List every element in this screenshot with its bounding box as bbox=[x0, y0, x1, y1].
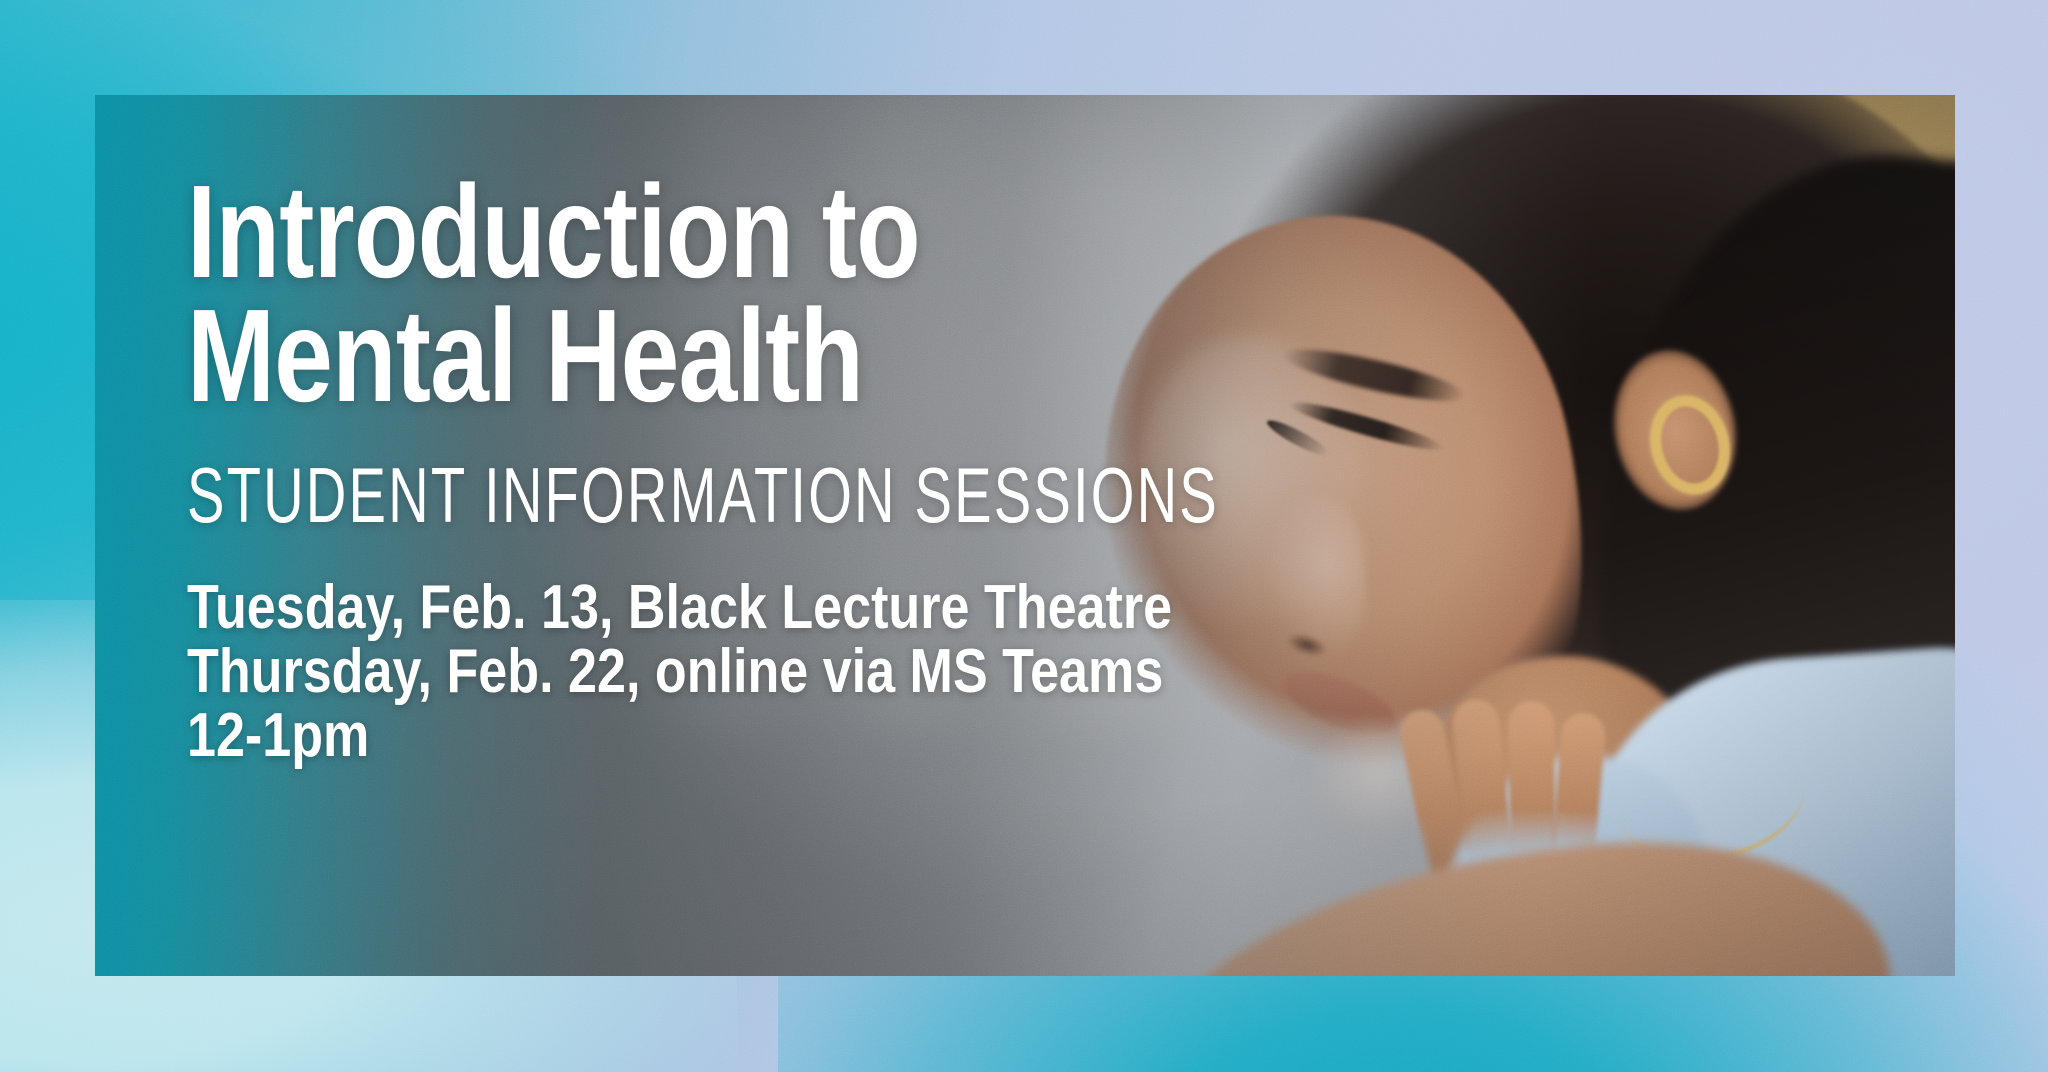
poster-canvas: Introduction to Mental Health STUDENT IN… bbox=[0, 0, 2048, 1072]
session-detail-line-1: Tuesday, Feb. 13, Black Lecture Theatre bbox=[187, 576, 1128, 640]
session-detail-line-2: Thursday, Feb. 22, online via MS Teams bbox=[187, 640, 1128, 704]
poster-subtitle: STUDENT INFORMATION SESSIONS bbox=[187, 456, 993, 534]
poster-title-line-2: Mental Health bbox=[187, 294, 1083, 418]
poster-details: Tuesday, Feb. 13, Black Lecture Theatre … bbox=[187, 576, 1307, 768]
poster-copy-block: Introduction to Mental Health STUDENT IN… bbox=[187, 170, 1307, 768]
session-detail-line-3: 12-1pm bbox=[187, 704, 1128, 768]
poster-title-line-1: Introduction to bbox=[187, 170, 1083, 294]
